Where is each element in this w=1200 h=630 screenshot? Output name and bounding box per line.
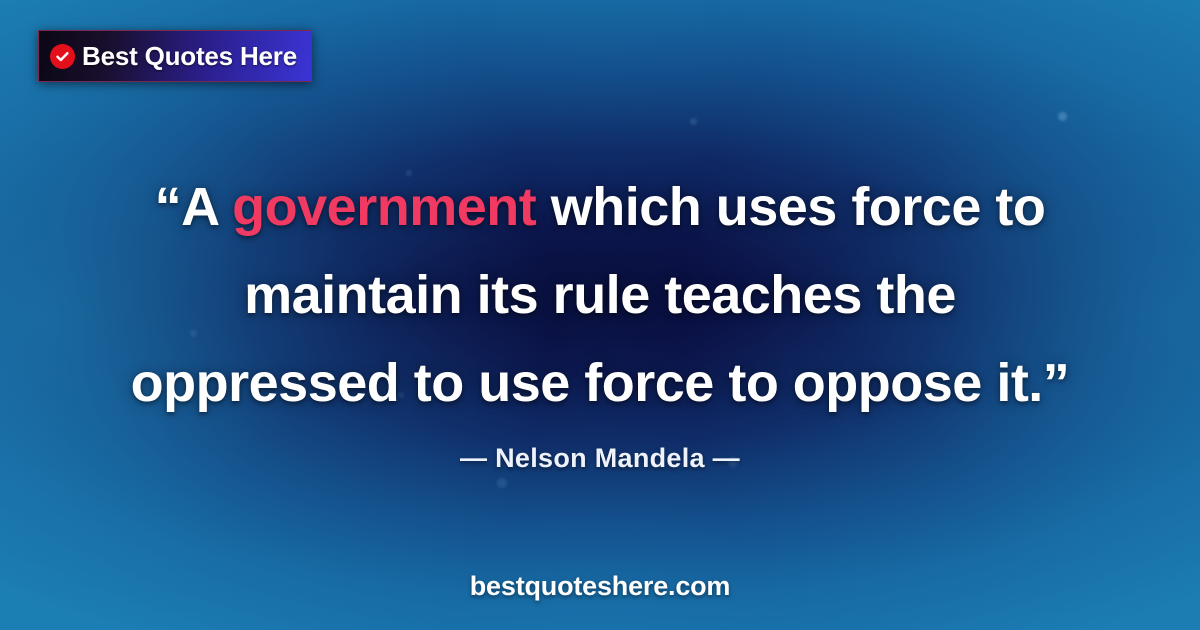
bokeh-dot [497, 478, 507, 488]
brand-label: Best Quotes Here [82, 41, 297, 72]
quote-block: “A government which uses force to mainta… [0, 163, 1200, 427]
bokeh-dot [1058, 112, 1067, 121]
brand-badge[interactable]: Best Quotes Here [38, 30, 312, 82]
quote-line-1-after: which uses force to [536, 177, 1045, 237]
quote-poster: Best Quotes Here “A government which use… [0, 0, 1200, 630]
quote-line-1-before: “A [155, 177, 233, 237]
bokeh-dot [690, 118, 697, 125]
quote-line: oppressed to use force to oppose it.” [60, 339, 1140, 427]
quote-attribution: — Nelson Mandela — [0, 443, 1200, 474]
quote-highlight-word: government [232, 177, 536, 237]
footer-website-url[interactable]: bestquoteshere.com [0, 571, 1200, 602]
quote-line: “A government which uses force to [60, 163, 1140, 251]
quote-line: maintain its rule teaches the [60, 251, 1140, 339]
check-circle-icon [50, 44, 75, 69]
